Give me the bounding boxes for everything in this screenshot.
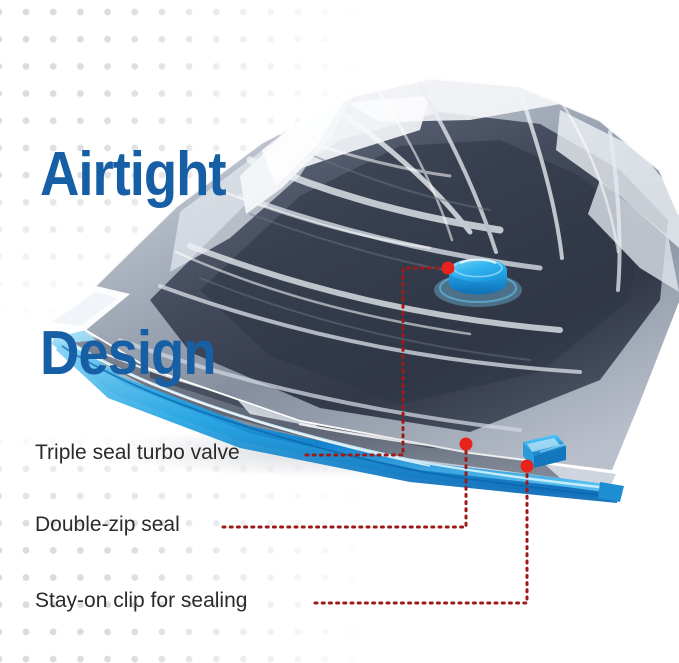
infographic-canvas: Airtight Design Triple seal turbo valve … bbox=[0, 0, 679, 663]
callout-marker-triple-seal-turbo-valve bbox=[442, 262, 455, 275]
callout-leader-lines bbox=[0, 0, 679, 663]
callout-marker-stay-on-clip-for-sealing bbox=[521, 460, 534, 473]
leader-line-triple-seal-turbo-valve bbox=[306, 268, 441, 455]
leader-line-stay-on-clip-for-sealing bbox=[315, 473, 527, 603]
callout-marker-double-zip-seal bbox=[460, 438, 473, 451]
leader-line-double-zip-seal bbox=[223, 451, 466, 527]
